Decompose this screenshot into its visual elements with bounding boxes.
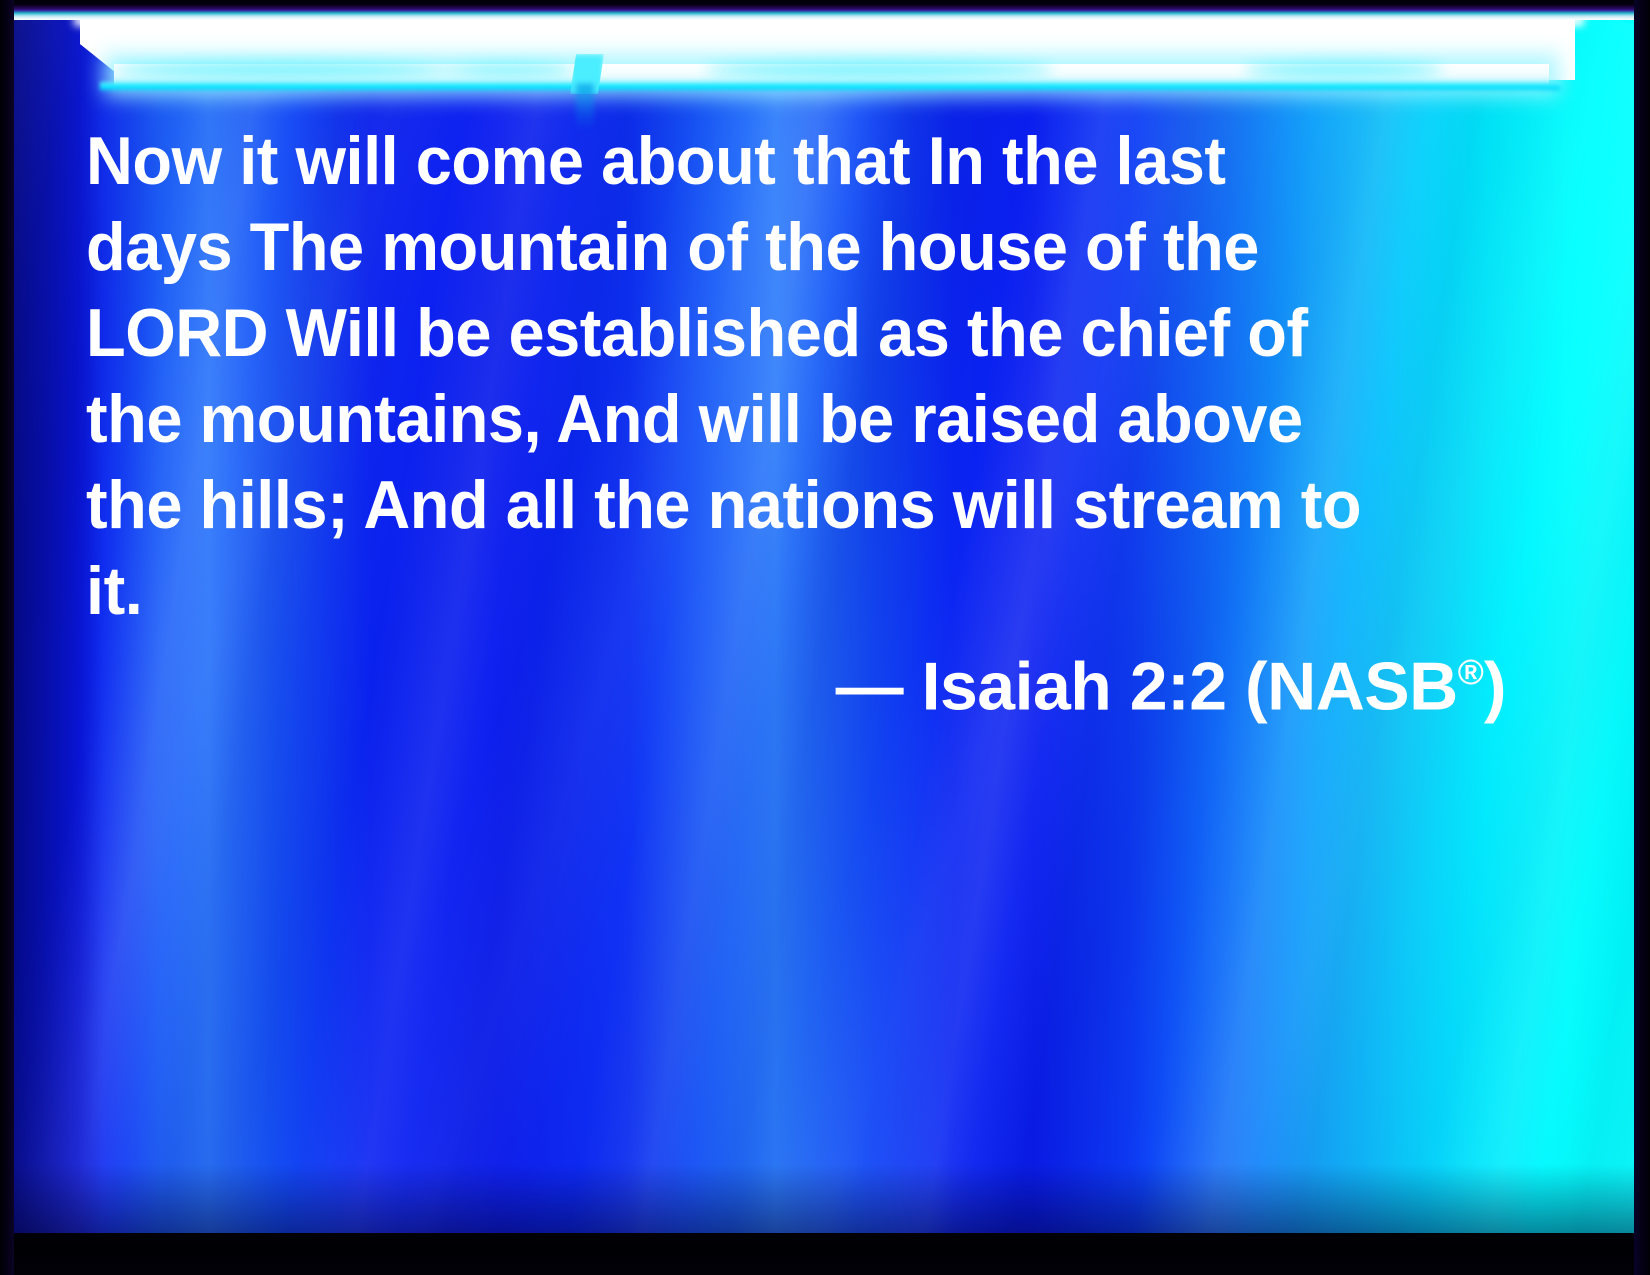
- citation-close-paren: ): [1484, 648, 1506, 724]
- verse-line: it.: [86, 548, 1442, 634]
- citation-translation: NASB: [1267, 648, 1458, 724]
- citation-dash: —: [836, 648, 904, 724]
- verse-slide: Now it will come about that In the last …: [0, 0, 1650, 1275]
- citation-spacer-2: [1111, 648, 1129, 724]
- citation-open-paren: (: [1245, 648, 1267, 724]
- verse-line: the mountains, And will be raised above: [86, 376, 1442, 462]
- verse-line: LORD Will be established as the chief of: [86, 290, 1442, 376]
- frame-bottom-border: [0, 1233, 1650, 1275]
- frame-top-border: [0, 0, 1650, 20]
- citation-spacer-3: [1227, 648, 1245, 724]
- registered-trademark-icon: ®: [1458, 653, 1484, 692]
- citation-spacer-1: [903, 648, 921, 724]
- verse-line: the hills; And all the nations will stre…: [86, 462, 1442, 548]
- citation-chapter-verse: 2:2: [1130, 648, 1227, 724]
- verse-line: days The mountain of the house of the: [86, 204, 1442, 290]
- verse-line: Now it will come about that In the last: [86, 118, 1442, 204]
- citation-book: Isaiah: [922, 648, 1112, 724]
- frame-left-border: [0, 0, 14, 1275]
- frame-right-border: [1634, 0, 1650, 1275]
- background-bottom-shadow: [14, 1164, 1634, 1234]
- verse-text-block: Now it will come about that In the last …: [86, 118, 1506, 634]
- verse-citation: — Isaiah 2:2 (NASB®): [86, 630, 1506, 729]
